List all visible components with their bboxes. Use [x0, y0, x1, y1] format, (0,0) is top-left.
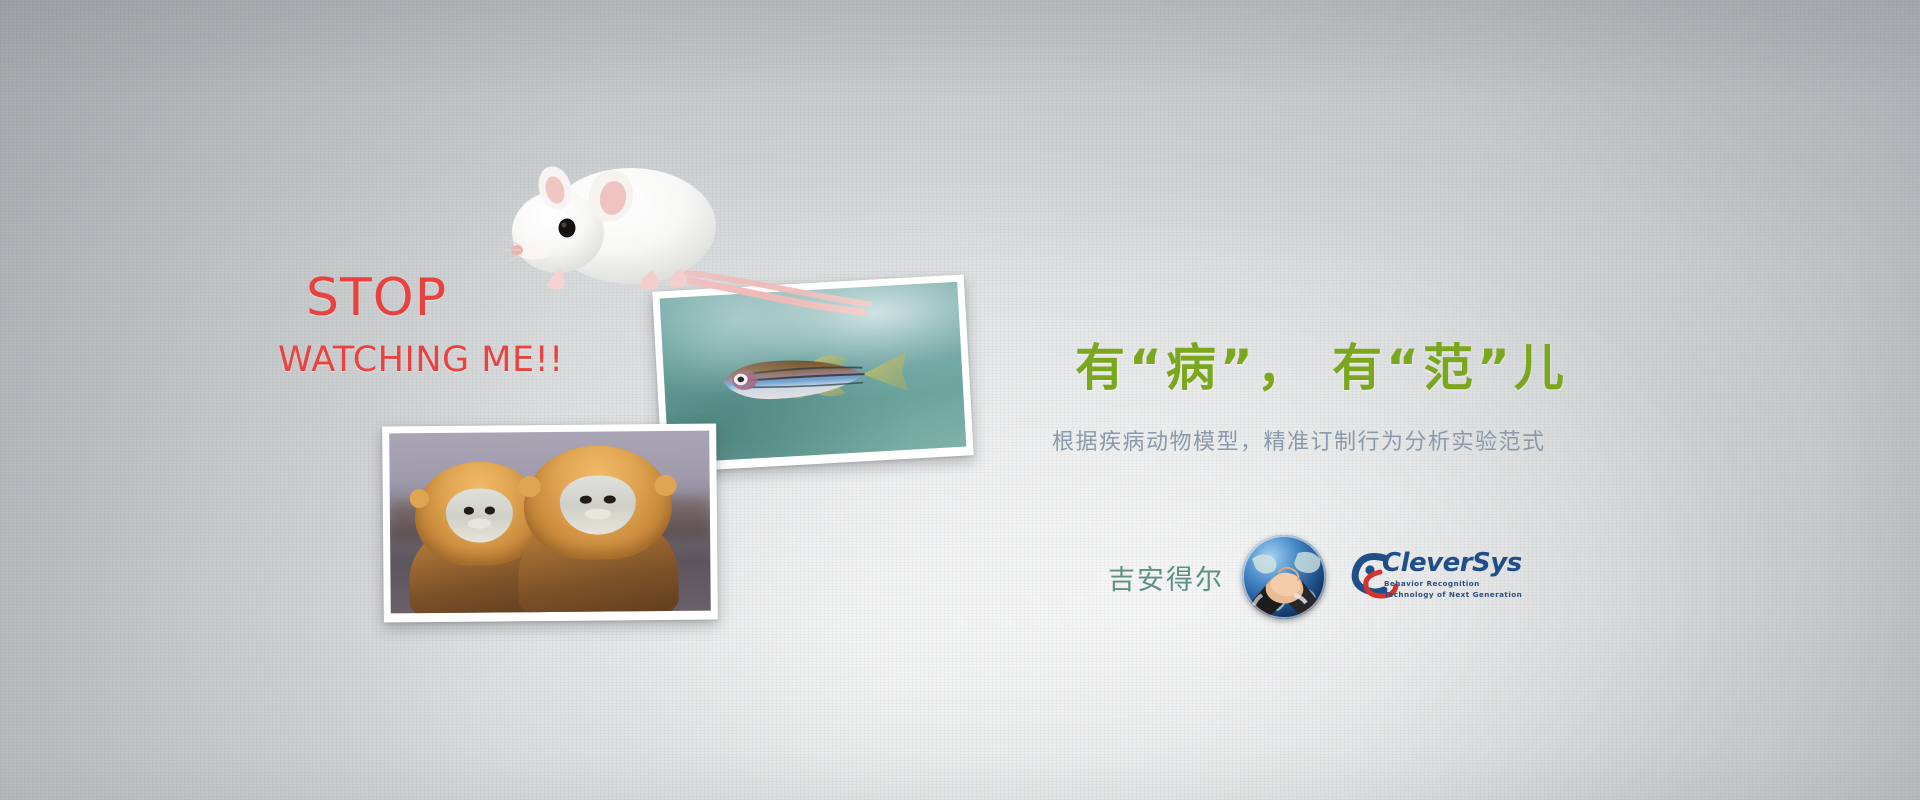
monkey-right-head — [524, 445, 672, 560]
monkey-right-ear-left — [518, 476, 540, 497]
monkey-right-muzzle — [585, 509, 611, 520]
cleversys-tagline-line2: Technology of Next Generation — [1384, 589, 1522, 600]
globe-handshake-logo[interactable] — [1242, 535, 1326, 619]
page-subtitle: 根据疾病动物模型，精准订制行为分析实验范式 — [1052, 432, 1546, 454]
stop-callout: STOP WATCHING ME!! — [306, 272, 564, 378]
monkey-right-eye-right — [604, 496, 616, 504]
mouse-icon — [503, 140, 933, 320]
cleversys-logo[interactable]: CleverSys Behavior Recognition Technolog… — [1350, 548, 1500, 606]
brand-row: 吉安得尔 — [1108, 522, 1500, 632]
monkey-left-muzzle — [468, 519, 491, 529]
cleversys-tagline: Behavior Recognition Technology of Next … — [1384, 578, 1522, 600]
monkey-left-eye-left — [464, 507, 474, 514]
monkeys-scene — [389, 431, 711, 614]
globe-handshake-icon — [1242, 535, 1326, 619]
monkey-left-eye-right — [485, 507, 495, 514]
lab-mouse-image — [503, 140, 933, 320]
zebrafish-icon — [713, 344, 912, 411]
cleversys-tagline-line1: Behavior Recognition — [1384, 578, 1522, 589]
hero-banner: STOP WATCHING ME!! 有“病”， 有“范”儿 根据疾病动物模型，… — [0, 0, 1920, 800]
monkey-right-eye-left — [580, 496, 592, 504]
brand-chinese-name: 吉安得尔 — [1108, 558, 1224, 597]
page-title: 有“病”， 有“范”儿 — [1075, 343, 1568, 393]
watching-me-text: WATCHING ME!! — [278, 343, 564, 378]
monkey-right — [517, 445, 679, 613]
monkey-right-face — [559, 475, 636, 535]
photo-golden-monkeys — [382, 424, 718, 623]
stop-text: STOP — [306, 272, 564, 324]
monkey-right-ear-right — [655, 475, 677, 496]
monkey-left-face — [446, 488, 514, 543]
cleversys-wordmark: CleverSys — [1382, 550, 1522, 576]
monkey-left-ear-left — [409, 489, 429, 508]
